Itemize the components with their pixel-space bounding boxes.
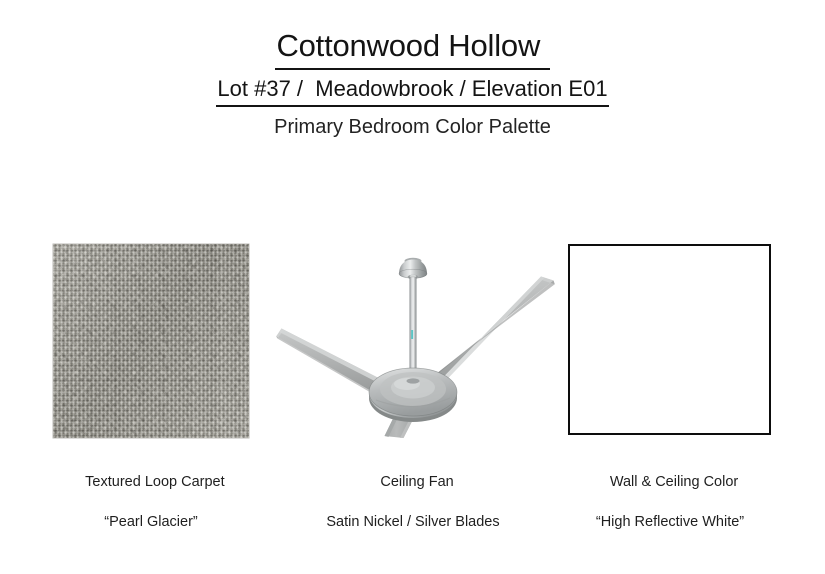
caption-ceiling-fan: Ceiling Fan Satin Nickel / Silver Blades	[293, 452, 533, 552]
caption-paint-line-2: “High Reflective White”	[550, 512, 790, 532]
carpet-shading-overlay	[53, 244, 249, 438]
ceiling-fan-illustration	[268, 244, 558, 438]
title-line-2-row: Lot #37 / Meadowbrook / Elevation E01	[0, 75, 825, 107]
caption-carpet-line-2: “Pearl Glacier”	[33, 512, 269, 532]
caption-paint-line-1: Wall & Ceiling Color	[610, 474, 738, 490]
caption-carpet-line-1: Textured Loop Carpet	[85, 474, 224, 490]
palette-item-carpet	[53, 244, 249, 438]
caption-wall-ceiling-paint: Wall & Ceiling Color “High Reflective Wh…	[550, 452, 790, 552]
lot-subtitle: Lot #37 / Meadowbrook / Elevation E01	[216, 75, 608, 107]
downrod-teal-marker	[411, 330, 413, 339]
caption-carpet: Textured Loop Carpet “Pearl Glacier”	[33, 452, 269, 552]
fan-motor-housing	[369, 368, 457, 422]
palette-item-ceiling-fan	[268, 244, 558, 438]
caption-fan-line-1: Ceiling Fan	[380, 474, 453, 490]
title-block: Cottonwood Hollow Lot #37 / Meadowbrook …	[0, 26, 825, 140]
title-line-1-row: Cottonwood Hollow	[0, 26, 825, 70]
page-title: Cottonwood Hollow	[275, 26, 549, 70]
carpet-swatch-image	[53, 244, 249, 438]
palette-item-wall-ceiling-paint	[568, 244, 773, 435]
palette-subtitle: Primary Bedroom Color Palette	[274, 114, 551, 140]
ceiling-fan-image	[268, 244, 558, 438]
paint-color-chip	[568, 244, 771, 435]
title-line-3-row: Primary Bedroom Color Palette	[0, 114, 825, 140]
fan-canopy-mount	[399, 258, 427, 280]
caption-fan-line-2: Satin Nickel / Silver Blades	[293, 512, 533, 532]
